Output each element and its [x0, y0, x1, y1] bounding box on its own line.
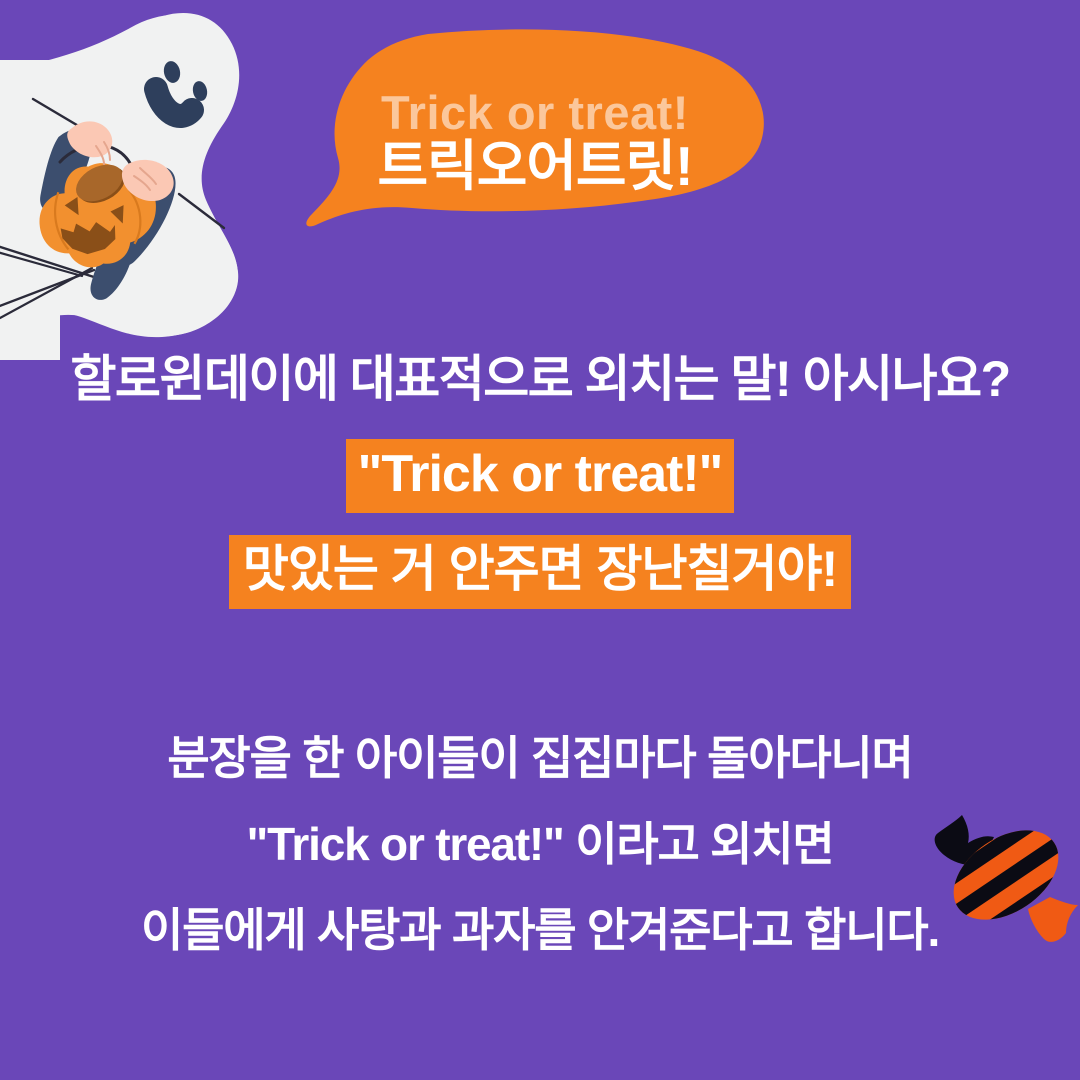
candy-illustration	[918, 795, 1080, 955]
highlight-chip-korean: 맛있는 거 안주면 장난칠거야!	[229, 535, 851, 609]
chip-line-korean: 맛있는 거 안주면 장난칠거야!	[0, 535, 1080, 609]
headline-question: 할로윈데이에 대표적으로 외치는 말! 아시나요?	[0, 352, 1080, 407]
headline-block: 할로윈데이에 대표적으로 외치는 말! 아시나요? "Trick or trea…	[0, 352, 1080, 609]
bubble-english-text: Trick or treat!	[381, 89, 689, 136]
body-line-1: 분장을 한 아이들이 집집마다 돌아다니며	[0, 735, 1080, 781]
bubble-korean-text: 트릭오어트릿!	[378, 138, 693, 196]
chip-line-english: "Trick or treat!"	[0, 439, 1080, 513]
speech-bubble-text: Trick or treat! 트릭오어트릿!	[300, 28, 770, 238]
halloween-poster: Trick or treat! 트릭오어트릿! 할로윈데이에 대표적으로 외치는…	[0, 0, 1080, 1080]
highlight-chip-english: "Trick or treat!"	[346, 439, 735, 513]
